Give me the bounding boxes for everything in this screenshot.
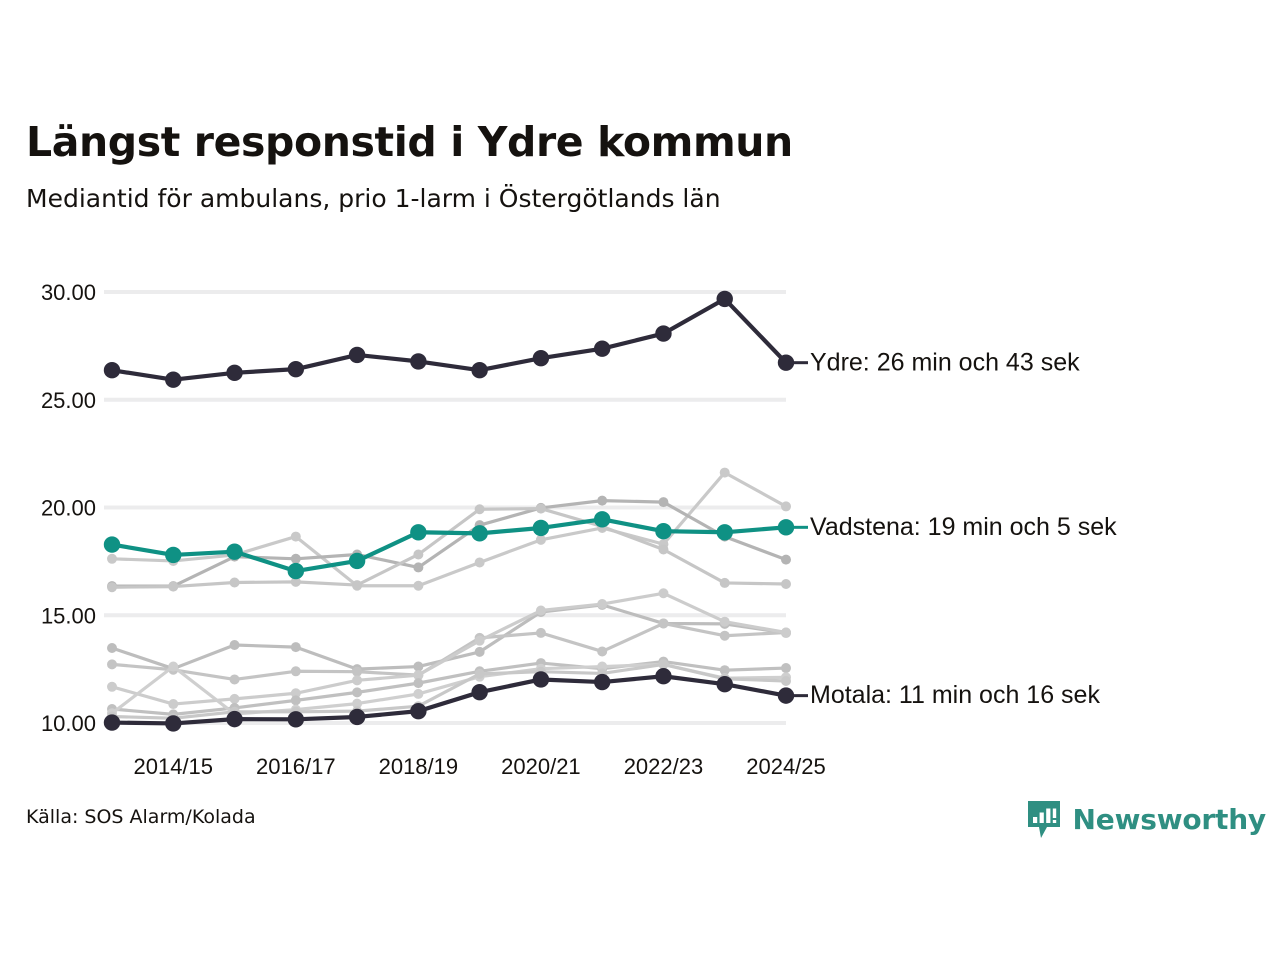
data-point	[107, 643, 117, 653]
y-axis-tick-label: 25.00	[41, 388, 96, 413]
y-axis-tick-label: 30.00	[41, 280, 96, 305]
data-point	[226, 711, 242, 727]
data-point	[168, 699, 178, 709]
data-point	[349, 347, 365, 363]
data-point	[533, 520, 549, 536]
data-point	[168, 582, 178, 592]
data-point	[107, 659, 117, 669]
data-point	[533, 671, 549, 687]
data-point	[655, 668, 671, 684]
context-series	[107, 657, 791, 720]
chart-footer: Källa: SOS Alarm/Kolada Newsworthy	[0, 798, 1280, 868]
data-point	[658, 618, 668, 628]
data-point	[471, 362, 487, 378]
data-point	[594, 674, 610, 690]
data-point	[720, 578, 730, 588]
data-point	[720, 617, 730, 627]
data-point	[413, 678, 423, 688]
data-point	[413, 549, 423, 559]
context-series	[107, 618, 791, 684]
data-point	[781, 676, 791, 686]
y-axis-tick-labels: 10.0015.0020.0025.0030.00	[41, 280, 96, 736]
data-point	[288, 711, 304, 727]
data-point	[165, 715, 181, 731]
data-point	[658, 545, 668, 555]
data-point	[107, 554, 117, 564]
data-point	[349, 709, 365, 725]
data-point	[230, 694, 240, 704]
context-series	[107, 659, 791, 723]
series-line	[112, 593, 786, 704]
data-point	[104, 362, 120, 378]
data-point	[410, 353, 426, 369]
data-point	[717, 291, 733, 307]
chart-header: Längst responstid i Ydre kommun Medianti…	[26, 120, 1186, 214]
data-point	[655, 325, 671, 341]
chart-plot-area: 10.0015.0020.0025.0030.00 Ydre: 26 min o…	[0, 262, 1280, 792]
data-point	[349, 553, 365, 569]
context-series	[107, 600, 791, 674]
data-point	[165, 372, 181, 388]
data-point	[291, 695, 301, 705]
data-point	[475, 647, 485, 657]
series-endpoint-labels: Ydre: 26 min och 43 sekVadstena: 19 min …	[792, 348, 1117, 709]
y-axis-tick-label: 15.00	[41, 603, 96, 628]
data-point	[107, 582, 117, 592]
data-point	[781, 555, 791, 565]
data-point	[291, 554, 301, 564]
data-point	[536, 606, 546, 616]
data-point	[597, 496, 607, 506]
data-point	[536, 535, 546, 545]
data-point	[291, 532, 301, 542]
data-point	[104, 714, 120, 730]
data-point	[658, 659, 668, 669]
x-axis-tick-label: 2020/21	[501, 754, 581, 779]
data-point	[230, 640, 240, 650]
data-point	[475, 669, 485, 679]
data-point	[536, 504, 546, 514]
data-point	[778, 687, 794, 703]
data-point	[413, 689, 423, 699]
x-axis-tick-labels: 2014/152016/172018/192020/212022/232024/…	[134, 754, 826, 779]
series-endpoint-label: Vadstena: 19 min och 5 sek	[810, 513, 1117, 541]
data-point	[655, 523, 671, 539]
data-point	[594, 340, 610, 356]
x-axis-tick-label: 2018/19	[379, 754, 459, 779]
data-point	[717, 676, 733, 692]
context-series	[107, 468, 791, 591]
data-point	[230, 577, 240, 587]
y-axis-tick-label: 20.00	[41, 496, 96, 521]
chart-title: Längst responstid i Ydre kommun	[26, 120, 1186, 166]
data-point	[475, 557, 485, 567]
data-point	[352, 667, 362, 677]
data-point	[597, 646, 607, 656]
x-axis-tick-label: 2014/15	[134, 754, 214, 779]
data-point	[658, 588, 668, 598]
data-point	[410, 703, 426, 719]
data-point	[778, 519, 794, 535]
data-point	[291, 666, 301, 676]
data-point	[413, 581, 423, 591]
line-chart-svg: 10.0015.0020.0025.0030.00 Ydre: 26 min o…	[0, 262, 1280, 792]
data-point	[291, 642, 301, 652]
data-point	[475, 504, 485, 514]
newsworthy-bar-chart-pin-icon	[1026, 800, 1062, 840]
data-point	[781, 501, 791, 511]
data-point	[778, 354, 794, 370]
newsworthy-logo-text: Newsworthy	[1073, 806, 1266, 834]
data-point	[717, 524, 733, 540]
data-point	[165, 547, 181, 563]
data-point	[168, 662, 178, 672]
newsworthy-logo: Newsworthy	[1026, 800, 1266, 840]
series-line	[112, 473, 786, 586]
data-point	[107, 682, 117, 692]
data-point	[781, 663, 791, 673]
data-point	[475, 636, 485, 646]
series-endpoint-label: Motala: 11 min och 16 sek	[810, 681, 1100, 709]
data-point	[533, 350, 549, 366]
x-axis-tick-label: 2022/23	[624, 754, 704, 779]
data-point	[471, 684, 487, 700]
highlight-series	[104, 291, 794, 388]
data-point	[288, 563, 304, 579]
data-point	[352, 675, 362, 685]
chart-subtitle: Mediantid för ambulans, prio 1-larm i Ös…	[26, 184, 1186, 214]
data-point	[536, 628, 546, 638]
x-axis-tick-label: 2016/17	[256, 754, 336, 779]
data-point	[352, 687, 362, 697]
data-point	[352, 580, 362, 590]
y-axis-tick-label: 10.00	[41, 711, 96, 736]
data-point	[226, 365, 242, 381]
data-point	[781, 627, 791, 637]
data-point	[594, 511, 610, 527]
data-point	[413, 562, 423, 572]
chart-canvas: Längst responstid i Ydre kommun Medianti…	[0, 0, 1280, 960]
series-line	[112, 299, 786, 380]
data-point	[781, 579, 791, 589]
data-point	[720, 631, 730, 641]
data-point	[720, 468, 730, 478]
data-point	[104, 536, 120, 552]
data-point	[288, 361, 304, 377]
x-axis-tick-label: 2024/25	[746, 754, 826, 779]
context-series	[107, 496, 791, 592]
data-point	[413, 662, 423, 672]
data-point	[471, 525, 487, 541]
data-point	[410, 524, 426, 540]
data-point	[230, 674, 240, 684]
data-point	[597, 599, 607, 609]
data-point	[658, 497, 668, 507]
data-point	[226, 543, 242, 559]
series-endpoint-label: Ydre: 26 min och 43 sek	[810, 348, 1080, 376]
source-note: Källa: SOS Alarm/Kolada	[26, 806, 256, 828]
